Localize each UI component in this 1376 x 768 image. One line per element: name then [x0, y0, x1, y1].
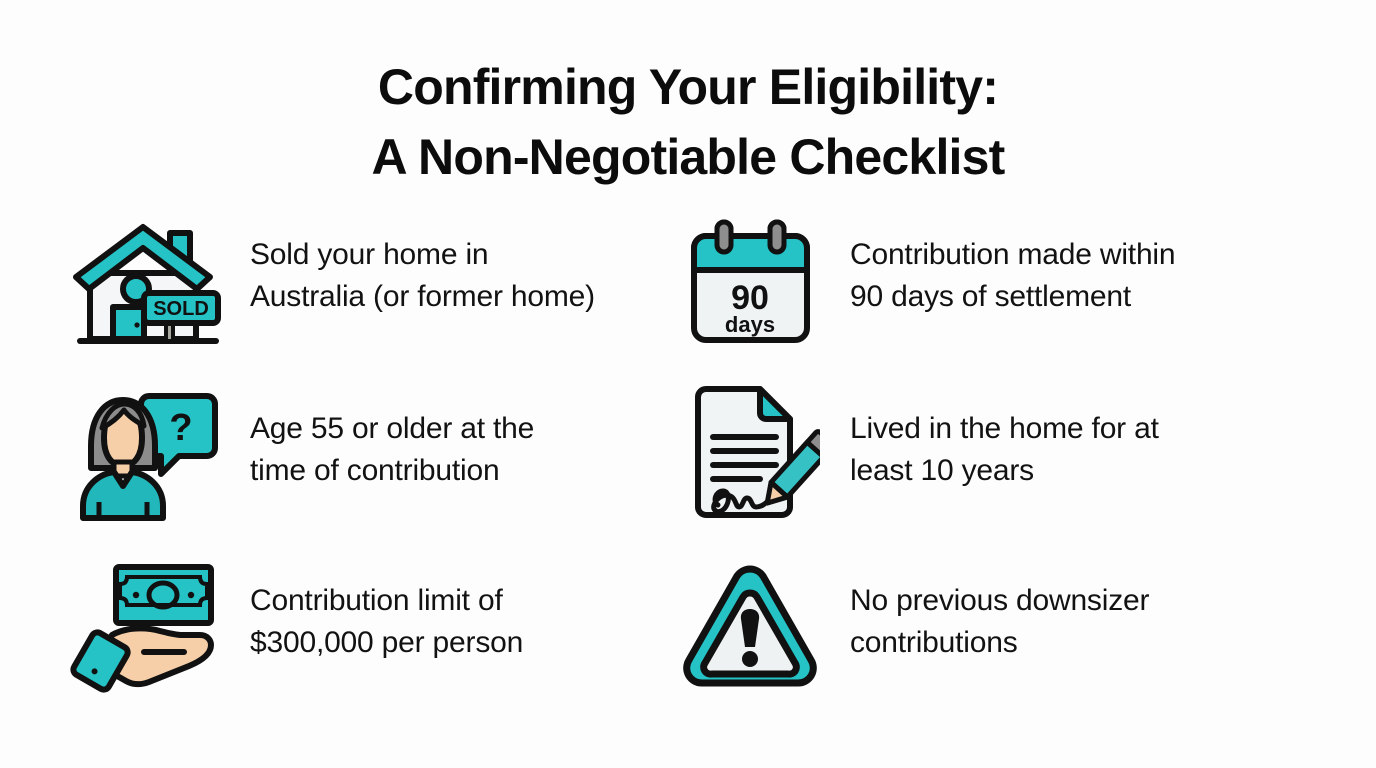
calendar-90-days-icon: 90 days	[670, 212, 830, 352]
checklist-item-text: Age 55 or older at the time of contribut…	[250, 384, 670, 492]
question-mark-label: ?	[169, 407, 192, 449]
signed-document-icon	[670, 384, 830, 524]
checklist-item-within-90-days: 90 days Contribution made within 90 days…	[670, 212, 1318, 384]
checklist-item-line-1: No previous downsizer	[850, 580, 1318, 622]
checklist-item-line-1: Contribution made within	[850, 234, 1318, 276]
checklist-item-line-2: $300,000 per person	[250, 622, 670, 664]
checklist-item-contribution-limit: Contribution limit of $300,000 per perso…	[62, 556, 670, 728]
checklist-item-line-1: Sold your home in	[250, 234, 670, 276]
checklist-item-line-1: Contribution limit of	[250, 580, 670, 622]
house-sold-icon: SOLD	[62, 212, 230, 352]
checklist-item-age-55-or-older: ? Age 55 or older at the time	[62, 384, 670, 556]
warning-triangle-icon	[670, 556, 830, 696]
page-title: Confirming Your Eligibility: A Non-Negot…	[0, 0, 1376, 192]
calendar-unit: days	[725, 312, 775, 337]
infographic-poster: Confirming Your Eligibility: A Non-Negot…	[0, 0, 1376, 768]
checklist-item-line-1: Lived in the home for at	[850, 408, 1318, 450]
money-in-hand-icon	[62, 556, 230, 696]
person-question-icon: ?	[62, 384, 230, 524]
checklist-item-line-1: Age 55 or older at the	[250, 408, 670, 450]
title-line-1: Confirming Your Eligibility:	[0, 52, 1376, 122]
checklist-item-lived-10-years: Lived in the home for at least 10 years	[670, 384, 1318, 556]
checklist-item-text: Contribution made within 90 days of sett…	[850, 212, 1318, 318]
title-line-2: A Non-Negotiable Checklist	[0, 122, 1376, 192]
checklist-grid: SOLD Sold your home in Australia (or for…	[62, 212, 1318, 728]
sold-sign-label: SOLD	[153, 298, 209, 320]
checklist-item-line-2: contributions	[850, 622, 1318, 664]
checklist-item-text: No previous downsizer contributions	[850, 556, 1318, 664]
checklist-item-sold-home: SOLD Sold your home in Australia (or for…	[62, 212, 670, 384]
checklist-item-line-2: least 10 years	[850, 450, 1318, 492]
checklist-item-line-2: 90 days of settlement	[850, 276, 1318, 318]
checklist-item-line-2: Australia (or former home)	[250, 276, 670, 318]
checklist-item-no-previous-downsizer: No previous downsizer contributions	[670, 556, 1318, 728]
checklist-item-text: Contribution limit of $300,000 per perso…	[250, 556, 670, 664]
checklist-item-text: Lived in the home for at least 10 years	[850, 384, 1318, 492]
checklist-item-line-2: time of contribution	[250, 450, 670, 492]
checklist-item-text: Sold your home in Australia (or former h…	[250, 212, 670, 318]
